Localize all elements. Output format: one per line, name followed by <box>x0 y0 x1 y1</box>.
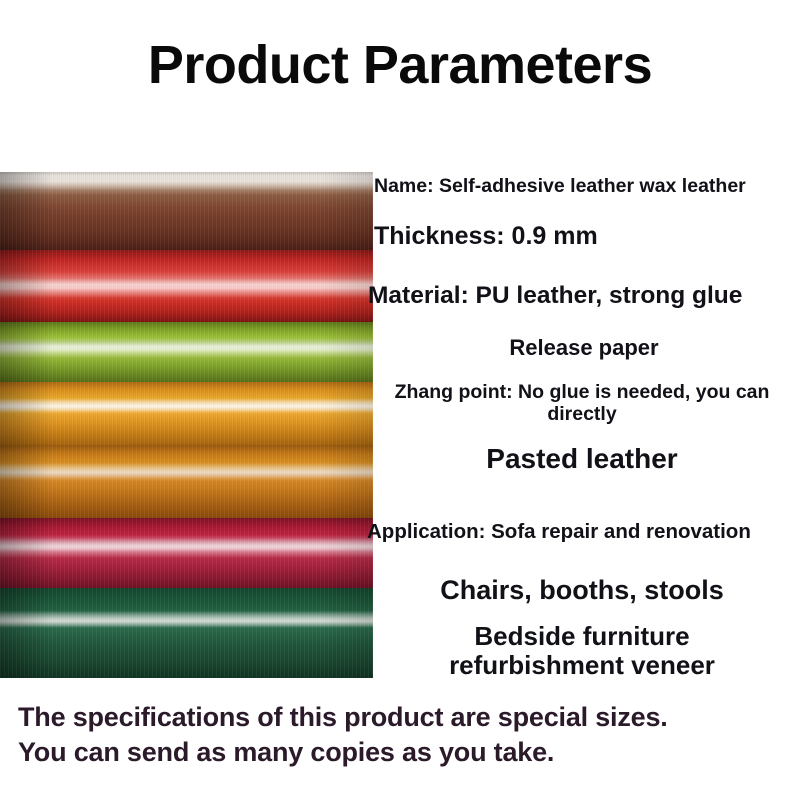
spec-application-items: Chairs, booths, stools <box>368 575 796 605</box>
bottom-caption: The specifications of this product are s… <box>18 700 788 769</box>
leather-grain-texture <box>0 588 373 678</box>
leather-grain-texture <box>0 382 373 445</box>
leather-gloss-highlight <box>0 174 373 190</box>
leather-gloss-highlight <box>0 398 373 414</box>
product-parameters-page: Product Parameters <box>0 0 800 800</box>
caption-line-1: The specifications of this product are s… <box>18 700 788 735</box>
leather-gloss-highlight <box>0 463 373 481</box>
leather-grain-texture <box>0 322 373 382</box>
caption-line-2: You can send as many copies as you take. <box>18 735 788 770</box>
red-leather-band <box>0 250 373 322</box>
spec-application: Application: Sofa repair and renovation <box>367 521 751 544</box>
leather-gloss-highlight <box>0 538 373 558</box>
amber-leather-band <box>0 445 373 518</box>
crimson-leather-band <box>0 518 373 588</box>
spec-material: Material: PU leather, strong glue <box>368 282 742 309</box>
product-photo <box>0 172 373 678</box>
leather-gloss-highlight <box>0 342 373 358</box>
spec-bedside-line-1: Bedside furniture <box>368 622 796 651</box>
leather-gloss-highlight <box>0 610 373 628</box>
leather-gloss-highlight <box>0 278 373 298</box>
spec-pasted-leather: Pasted leather <box>368 443 796 474</box>
leather-grain-texture <box>0 518 373 588</box>
spec-application-items-2: Bedside furniture refurbishment veneer <box>368 622 796 680</box>
leather-grain-texture <box>0 445 373 518</box>
dark-green-leather-band <box>0 588 373 678</box>
orange-leather-band <box>0 382 373 445</box>
spec-bedside-line-2: refurbishment veneer <box>368 651 796 680</box>
spec-zhang-point: Zhang point: No glue is needed, you can … <box>368 382 796 426</box>
spec-release-paper: Release paper <box>374 336 794 361</box>
brown-leather-band <box>0 172 373 250</box>
spec-thickness: Thickness: 0.9 mm <box>374 222 598 250</box>
green-leather-band <box>0 322 373 382</box>
page-title: Product Parameters <box>0 38 800 92</box>
leather-grain-texture <box>0 250 373 322</box>
leather-grain-texture <box>0 172 373 250</box>
spec-name: Name: Self-adhesive leather wax leather <box>374 176 746 198</box>
